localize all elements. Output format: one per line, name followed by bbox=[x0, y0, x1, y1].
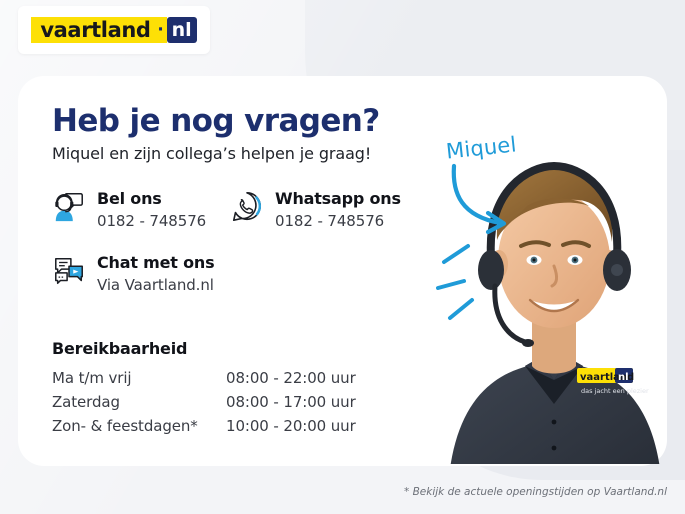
contact-chat[interactable]: Chat met ons Via Vaartland.nl bbox=[52, 252, 214, 296]
contact-call-text: Bel ons 0182 - 748576 bbox=[97, 188, 206, 232]
logo-wordmark: vaartland bbox=[31, 17, 157, 43]
availability-table: Ma t/m vrij 08:00 - 22:00 uur Zaterdag 0… bbox=[52, 366, 356, 438]
contact-call-title: Bel ons bbox=[97, 189, 206, 208]
headset-person-icon bbox=[52, 188, 86, 224]
contact-whatsapp-title: Whatsapp ons bbox=[275, 189, 401, 208]
chat-bubbles-icon bbox=[52, 252, 86, 288]
availability-time: 10:00 - 20:00 uur bbox=[226, 414, 356, 438]
contact-call[interactable]: Bel ons 0182 - 748576 bbox=[52, 188, 206, 232]
availability-time: 08:00 - 17:00 uur bbox=[226, 390, 356, 414]
contact-chat-value: Via Vaartland.nl bbox=[97, 274, 214, 296]
contact-whatsapp-value: 0182 - 748576 bbox=[275, 210, 401, 232]
availability-day: Ma t/m vrij bbox=[52, 366, 226, 390]
logo-tld: nl bbox=[167, 17, 197, 43]
promo-banner: vaartland · nl bbox=[0, 0, 685, 514]
contact-chat-title: Chat met ons bbox=[97, 253, 214, 272]
availability-row: Zaterdag 08:00 - 17:00 uur bbox=[52, 390, 356, 414]
contact-whatsapp-text: Whatsapp ons 0182 - 748576 bbox=[275, 188, 401, 232]
contact-whatsapp[interactable]: Whatsapp ons 0182 - 748576 bbox=[230, 188, 401, 232]
availability-row: Ma t/m vrij 08:00 - 22:00 uur bbox=[52, 366, 356, 390]
availability-row: Zon- & feestdagen* 10:00 - 20:00 uur bbox=[52, 414, 356, 438]
svg-text:das jacht een plezier: das jacht een plezier bbox=[581, 387, 649, 395]
polo-logo-badge: vaartland nl das jacht een plezier bbox=[577, 368, 649, 395]
svg-text:nl: nl bbox=[618, 372, 629, 383]
footnote: * Bekijk de actuele openingstijden op Va… bbox=[404, 486, 667, 498]
logo-separator-dot: · bbox=[158, 17, 167, 43]
availability-day: Zon- & feestdagen* bbox=[52, 414, 226, 438]
brand-logo[interactable]: vaartland · nl bbox=[18, 6, 210, 54]
whatsapp-icon bbox=[230, 188, 264, 224]
availability-day: Zaterdag bbox=[52, 390, 226, 414]
availability-time: 08:00 - 22:00 uur bbox=[226, 366, 356, 390]
contact-chat-text: Chat met ons Via Vaartland.nl bbox=[97, 252, 214, 296]
availability-title: Bereikbaarheid bbox=[52, 339, 187, 358]
contact-call-value: 0182 - 748576 bbox=[97, 210, 206, 232]
page-subtitle: Miquel en zijn collega’s helpen je graag… bbox=[52, 144, 371, 163]
curved-arrow-icon bbox=[438, 160, 538, 238]
spark-lines-icon bbox=[436, 240, 516, 330]
page-title: Heb je nog vragen? bbox=[52, 103, 380, 139]
logo-lockup: vaartland · nl bbox=[31, 17, 196, 43]
